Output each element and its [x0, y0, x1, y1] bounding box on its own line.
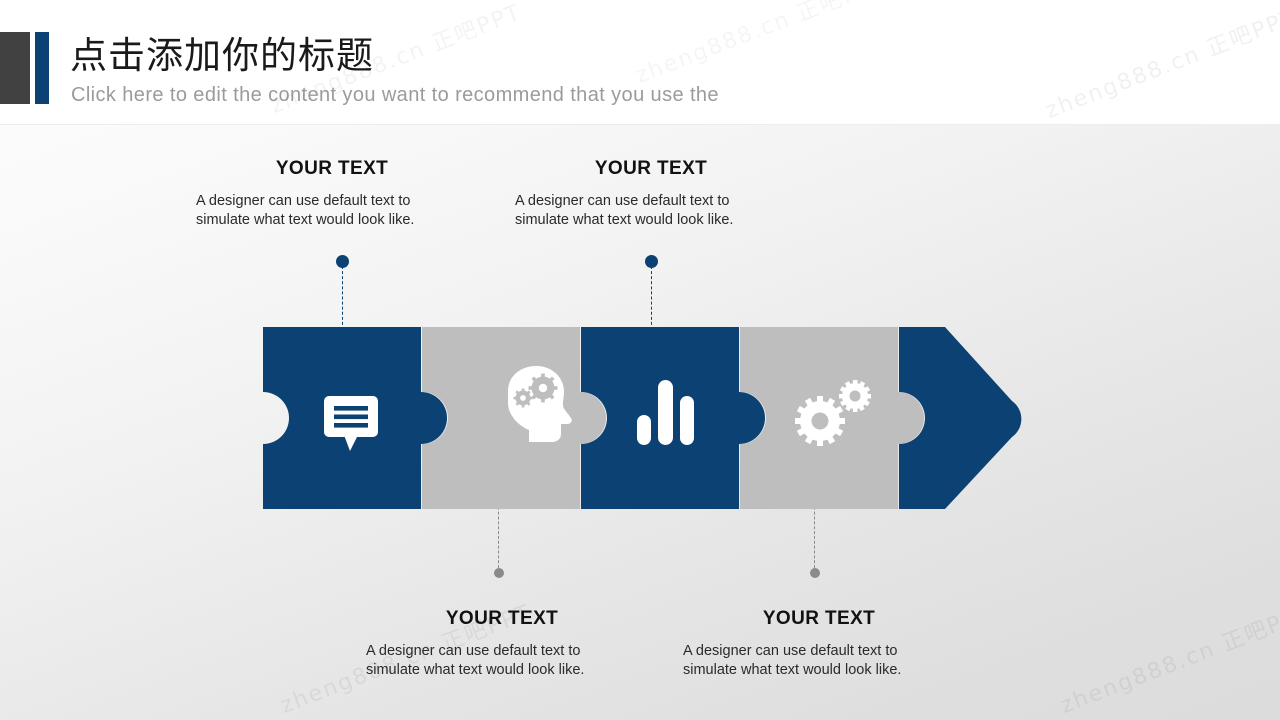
puzzle-piece-2[interactable]	[422, 327, 606, 509]
callout-2-title: YOUR TEXT	[515, 157, 787, 181]
callout-1-body-line2: simulate what text would look like.	[196, 211, 468, 230]
header-gray-block	[0, 32, 30, 104]
puzzle-piece-3[interactable]	[581, 327, 765, 509]
callout-4-title: YOUR TEXT	[683, 607, 955, 631]
callout-1-body-line1: A designer can use default text to	[196, 192, 468, 211]
puzzle-chain	[255, 318, 1035, 518]
callout-1-title: YOUR TEXT	[196, 157, 468, 181]
connector-dot-3-bottom	[494, 568, 504, 578]
callout-2-body-line1: A designer can use default text to	[515, 192, 787, 211]
page-subtitle: Click here to edit the content you want …	[71, 82, 719, 108]
callout-4-body-line2: simulate what text would look like.	[683, 661, 955, 680]
callout-1: YOUR TEXT A designer can use default tex…	[196, 157, 468, 230]
connector-dot-4-bottom	[810, 568, 820, 578]
callout-4-body-line1: A designer can use default text to	[683, 642, 955, 661]
puzzle-piece-4[interactable]	[740, 327, 924, 509]
callout-4: YOUR TEXT A designer can use default tex…	[683, 607, 955, 680]
callout-2: YOUR TEXT A designer can use default tex…	[515, 157, 787, 230]
puzzle-piece-1[interactable]	[263, 327, 447, 509]
callout-2-body-line2: simulate what text would look like.	[515, 211, 787, 230]
header-accent-bar	[35, 32, 49, 104]
header-divider	[0, 124, 1280, 125]
watermark-bottom-right: zheng888.cn 正吧PPT	[1055, 594, 1280, 720]
slide-canvas: 点击添加你的标题 Click here to edit the content …	[0, 0, 1280, 720]
